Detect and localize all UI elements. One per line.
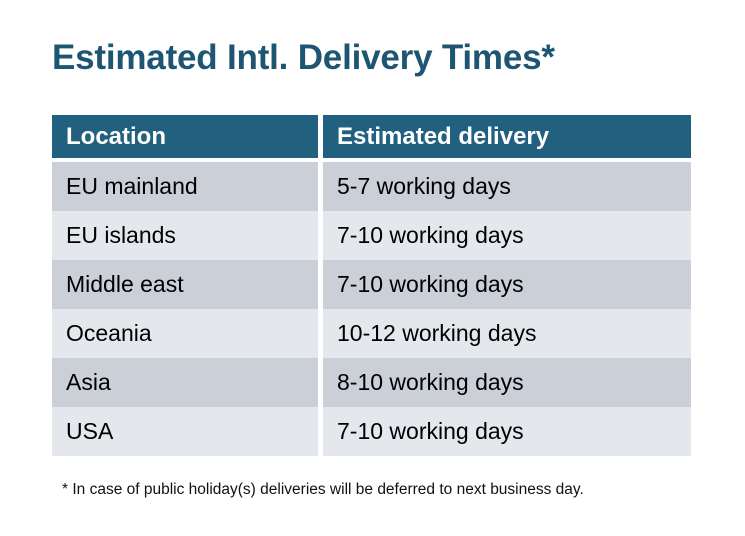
cell-location: Oceania [52,309,318,358]
table-row: Middle east 7-10 working days [52,260,691,309]
cell-location: Middle east [52,260,318,309]
cell-location: USA [52,407,318,456]
table-row: EU mainland 5-7 working days [52,162,691,211]
cell-estimated-delivery: 5-7 working days [323,162,691,211]
footnote-text: * In case of public holiday(s) deliverie… [62,480,584,500]
cell-estimated-delivery: 7-10 working days [323,260,691,309]
cell-estimated-delivery: 7-10 working days [323,407,691,456]
delivery-times-table: Location Estimated delivery EU mainland … [52,115,691,456]
cell-location: Asia [52,358,318,407]
table-row: Asia 8-10 working days [52,358,691,407]
page-title: Estimated Intl. Delivery Times* [52,36,555,80]
table-row: USA 7-10 working days [52,407,691,456]
table-header-row: Location Estimated delivery [52,115,691,158]
cell-estimated-delivery: 7-10 working days [323,211,691,260]
column-header-location: Location [52,115,318,158]
cell-location: EU islands [52,211,318,260]
column-header-estimated-delivery: Estimated delivery [323,115,691,158]
cell-estimated-delivery: 10-12 working days [323,309,691,358]
table-row: EU islands 7-10 working days [52,211,691,260]
cell-estimated-delivery: 8-10 working days [323,358,691,407]
cell-location: EU mainland [52,162,318,211]
table-row: Oceania 10-12 working days [52,309,691,358]
delivery-times-page: Estimated Intl. Delivery Times* Location… [0,0,745,536]
